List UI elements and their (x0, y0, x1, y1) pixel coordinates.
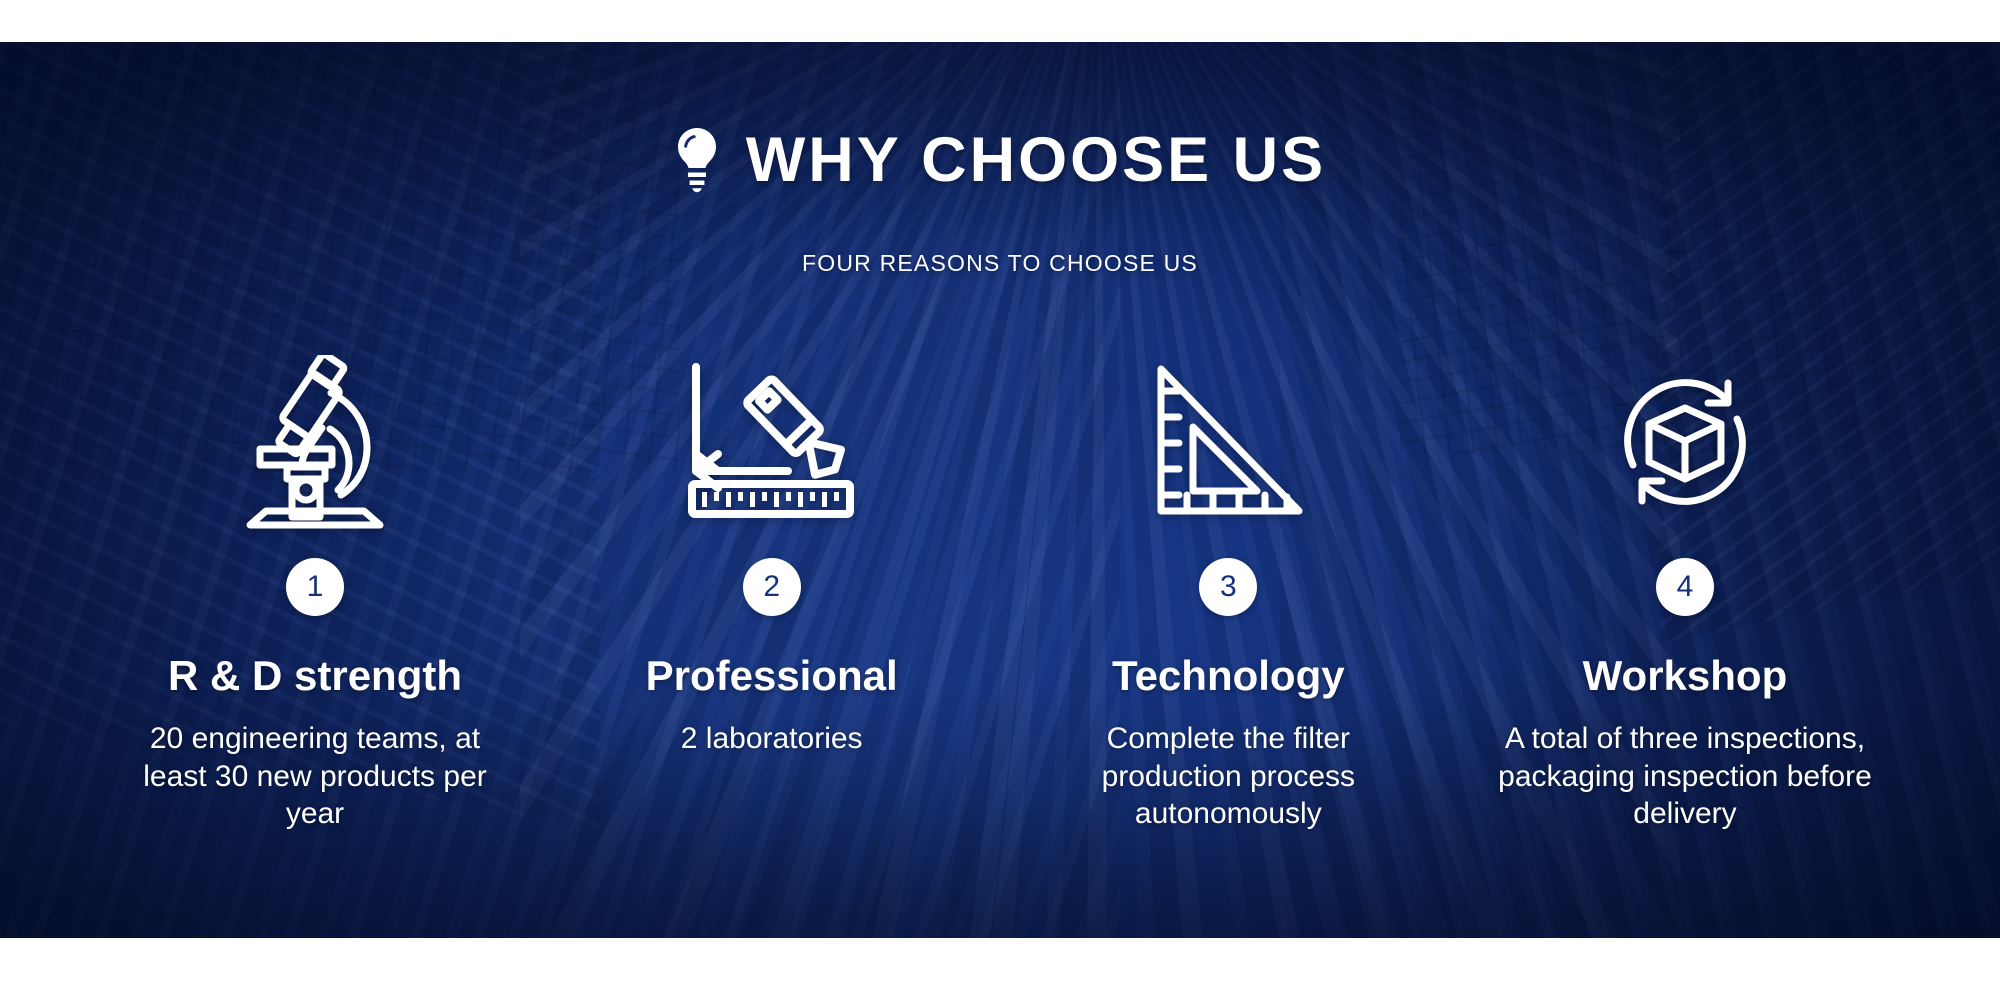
reason-1-number-badge: 1 (286, 558, 344, 616)
reason-2-number-badge: 2 (743, 558, 801, 616)
pen-ruler-icon (684, 362, 859, 522)
set-square-icon (1153, 365, 1303, 520)
microscope-icon (230, 355, 400, 530)
page-subtitle: FOUR REASONS TO CHOOSE US (0, 250, 2000, 277)
cube-refresh-icon (1610, 367, 1760, 517)
reason-column-3: 3 Technology Complete the filter product… (1013, 342, 1443, 833)
reason-4-title: Workshop (1583, 654, 1788, 698)
reason-1-icon-wrap (230, 342, 400, 542)
reason-3-description: Complete the filter production process a… (1048, 720, 1408, 833)
banner-section: WHY CHOOSE US FOUR REASONS TO CHOOSE US (0, 42, 2000, 938)
reason-3-number-badge: 3 (1199, 558, 1257, 616)
reason-1-title: R & D strength (168, 654, 462, 698)
reason-4-number-badge: 4 (1656, 558, 1714, 616)
why-choose-us-banner-page: WHY CHOOSE US FOUR REASONS TO CHOOSE US (0, 0, 2000, 1000)
reason-3-icon-wrap (1153, 342, 1303, 542)
reason-4-icon-wrap (1610, 342, 1760, 542)
reason-2-icon-wrap (684, 342, 859, 542)
reason-2-description: 2 laboratories (681, 720, 863, 758)
banner-heading-row: WHY CHOOSE US (0, 127, 2000, 193)
reason-column-1: 1 R & D strength 20 engineering teams, a… (100, 342, 530, 833)
reason-2-title: Professional (646, 654, 898, 698)
lightbulb-icon (674, 127, 720, 193)
banner-content: WHY CHOOSE US FOUR REASONS TO CHOOSE US (0, 42, 2000, 938)
page-title: WHY CHOOSE US (746, 129, 1326, 192)
reason-3-title: Technology (1112, 654, 1345, 698)
reason-column-2: 2 Professional 2 laboratories (557, 342, 987, 758)
reasons-columns: 1 R & D strength 20 engineering teams, a… (100, 342, 1900, 833)
reason-4-description: A total of three inspections, packaging … (1485, 720, 1885, 833)
reason-column-4: 4 Workshop A total of three inspections,… (1470, 342, 1900, 833)
reason-1-description: 20 engineering teams, at least 30 new pr… (115, 720, 515, 833)
